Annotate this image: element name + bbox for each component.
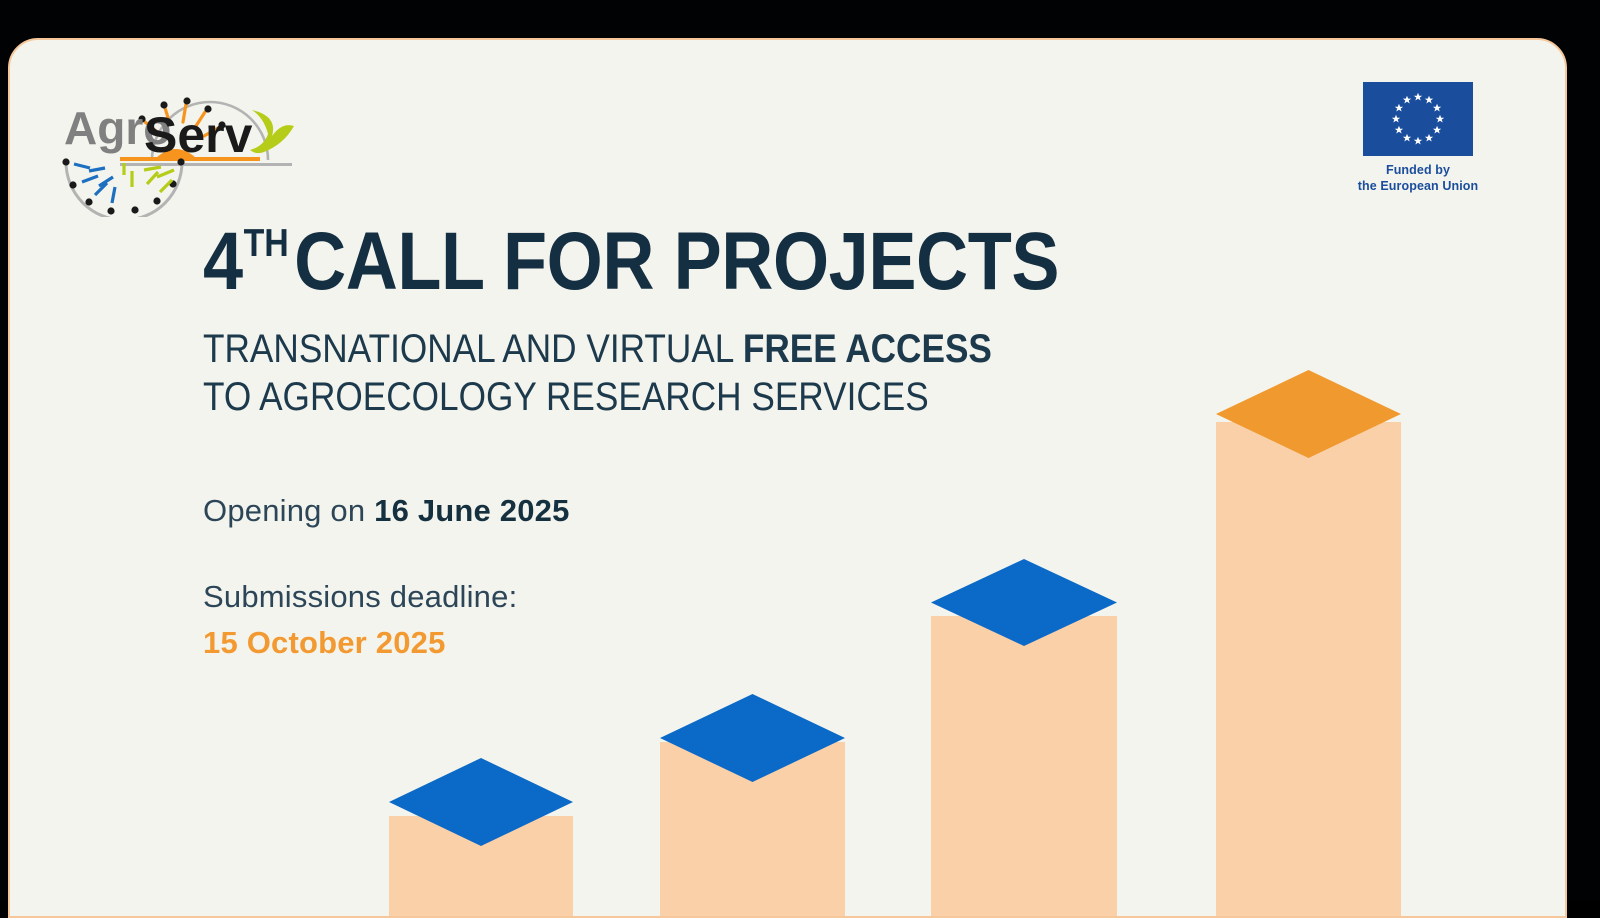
opening-date-line: Opening on 16 June 2025 bbox=[203, 493, 1083, 529]
eu-funding-caption: Funded by the European Union bbox=[1343, 163, 1493, 194]
bar-cap-diamond bbox=[660, 694, 845, 782]
headline-ordinal: TH bbox=[244, 222, 289, 265]
opening-label: Opening on bbox=[203, 493, 374, 528]
page-title: 4THCALL FOR PROJECTS bbox=[203, 222, 977, 302]
bar-body bbox=[389, 816, 573, 916]
agroserv-logo: Agro Serv bbox=[52, 82, 302, 217]
deadline-label: Submissions deadline: bbox=[203, 579, 1083, 615]
slide-stage: Agro Serv bbox=[0, 0, 1600, 900]
deadline-date-value: 15 October 2025 bbox=[203, 625, 1083, 661]
subtitle-line2: TO AGROECOLOGY RESEARCH SERVICES bbox=[203, 375, 929, 419]
headline-text: CALL FOR PROJECTS bbox=[294, 216, 1059, 307]
subtitle-line1-normal: TRANSNATIONAL AND VIRTUAL bbox=[203, 327, 743, 371]
deadline-block: Submissions deadline: 15 October 2025 bbox=[203, 579, 1083, 661]
bar-cap-diamond bbox=[1216, 370, 1401, 458]
subtitle-line1-emphasis: FREE ACCESS bbox=[743, 327, 992, 371]
subtitle-line1: TRANSNATIONAL AND VIRTUAL FREE ACCESS bbox=[203, 327, 992, 371]
content-block: 4THCALL FOR PROJECTS TRANSNATIONAL AND V… bbox=[203, 222, 1083, 661]
page-subtitle: TRANSNATIONAL AND VIRTUAL FREE ACCESS TO… bbox=[203, 326, 977, 420]
bar-body bbox=[1216, 422, 1401, 916]
opening-date-value: 16 June 2025 bbox=[374, 493, 569, 528]
european-union-flag-icon bbox=[1363, 82, 1473, 156]
eu-funding-emblem: Funded by the European Union bbox=[1343, 82, 1493, 194]
bar-cap-diamond bbox=[389, 758, 573, 846]
bar-body bbox=[660, 742, 845, 916]
bar-body bbox=[931, 616, 1117, 916]
slide-card: Agro Serv bbox=[8, 38, 1567, 918]
headline-number: 4 bbox=[203, 216, 243, 307]
svg-text:Serv: Serv bbox=[144, 107, 253, 163]
